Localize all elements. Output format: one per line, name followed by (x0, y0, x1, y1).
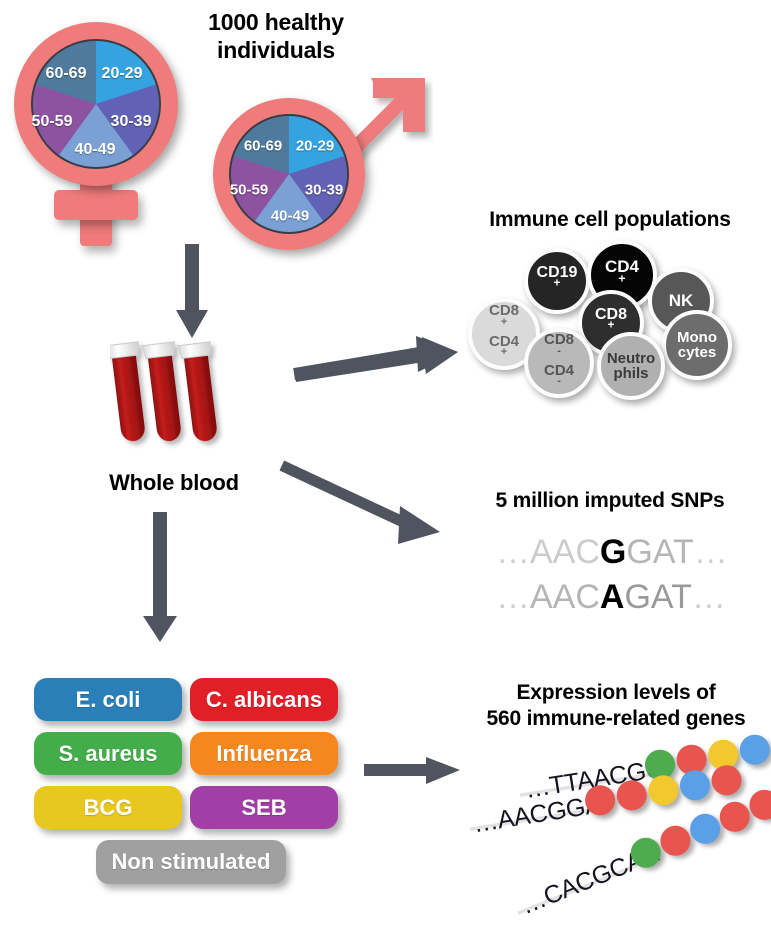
expression-strands-group: …TTAACGG …AACGGAT …CACGCAA (440, 750, 771, 915)
immune-cell-monocytes: Mono cytes (662, 310, 732, 380)
expression-section-title: Expression levels of 560 immune-related … (462, 680, 770, 731)
immune-cells-group: CD8+ CD4+ CD19+ CD4+ NK CD8+ CD8- CD4- M… (466, 240, 766, 420)
female-symbol: 20-29 30-39 40-49 50-59 60-69 (10, 18, 190, 248)
snp-bases-right: GAT (624, 578, 691, 616)
arrow-blood-to-immune (292, 330, 460, 380)
arrow-cohort-to-blood (172, 244, 212, 340)
expression-title-line1: Expression levels of (462, 680, 770, 706)
snp-variant-base: A (600, 578, 625, 616)
male-pie-svg (231, 116, 347, 232)
figure-canvas: 1000 healthy individuals 20-29 30-39 40-… (0, 0, 771, 922)
stimulation-pill-influenza[interactable]: Influenza (190, 732, 338, 775)
snp-prefix-dots: … (496, 533, 530, 571)
female-pie-svg (33, 41, 159, 167)
stimulation-pill-s-aureus[interactable]: S. aureus (34, 732, 182, 775)
cell-sup1: + (554, 278, 561, 290)
cell-sup1: + (501, 316, 507, 328)
stimulation-pill-bcg[interactable]: BCG (34, 786, 182, 829)
blood-tubes-svg (110, 338, 240, 458)
cell-sup1: - (557, 345, 561, 357)
immune-section-title: Immune cell populations (460, 207, 760, 233)
cell-sup1: + (608, 320, 615, 332)
blood-tube (178, 342, 222, 443)
immune-cell-neutrophils: Neutro phils (597, 332, 665, 400)
cell-line1: NK (669, 292, 694, 309)
snp-allele-row-2: …AACAGAT… (496, 578, 726, 617)
cell-line2: cytes (677, 345, 717, 360)
stimulation-pill-seb[interactable]: SEB (190, 786, 338, 829)
snp-bases-left: AAC (530, 578, 600, 616)
snp-suffix-dots: … (692, 578, 726, 616)
arrow-blood-to-snp (282, 458, 450, 556)
female-symbol-crossbar (54, 190, 138, 220)
stimulation-group: E. coli C. albicans S. aureus Influenza … (34, 678, 344, 890)
cell-line1: Mono (677, 330, 717, 345)
stimulation-pill-c-albicans[interactable]: C. albicans (190, 678, 338, 721)
male-symbol: 20-29 30-39 40-49 50-59 60-69 (205, 80, 405, 250)
male-pie-chart (229, 114, 349, 234)
snp-bases-left: AAC (530, 533, 600, 571)
blood-tube (110, 342, 150, 443)
expression-title-line2: 560 immune-related genes (462, 706, 770, 732)
blood-tubes-group (110, 338, 240, 458)
cell-sup2: - (557, 375, 561, 387)
snp-suffix-dots: … (694, 533, 728, 571)
female-pie-chart (31, 39, 161, 169)
whole-blood-label: Whole blood (84, 470, 264, 497)
cell-sup1: + (618, 271, 625, 285)
stimulation-pill-e-coli[interactable]: E. coli (34, 678, 182, 721)
arrow-blood-to-stimulation (140, 512, 180, 644)
cell-line1: Neutro (607, 351, 655, 366)
immune-cell-cd19-positive: CD19+ (524, 248, 590, 314)
snp-prefix-dots: … (496, 578, 530, 616)
blood-tube (142, 342, 186, 443)
bead-blue (738, 733, 771, 767)
snp-bases-right: GAT (626, 533, 693, 571)
snp-variant-base: G (600, 533, 626, 571)
snp-allele-row-1: …AACGGAT… (496, 533, 728, 572)
cell-sup2: + (501, 346, 507, 358)
cohort-headline-line1: 1000 healthy (178, 8, 374, 36)
immune-cell-cd8-neg-cd4-neg: CD8- CD4- (524, 328, 594, 398)
stimulation-pill-non-stimulated[interactable]: Non stimulated (96, 840, 286, 884)
snp-section-title: 5 million imputed SNPs (465, 488, 755, 514)
cell-line2: phils (607, 366, 655, 381)
